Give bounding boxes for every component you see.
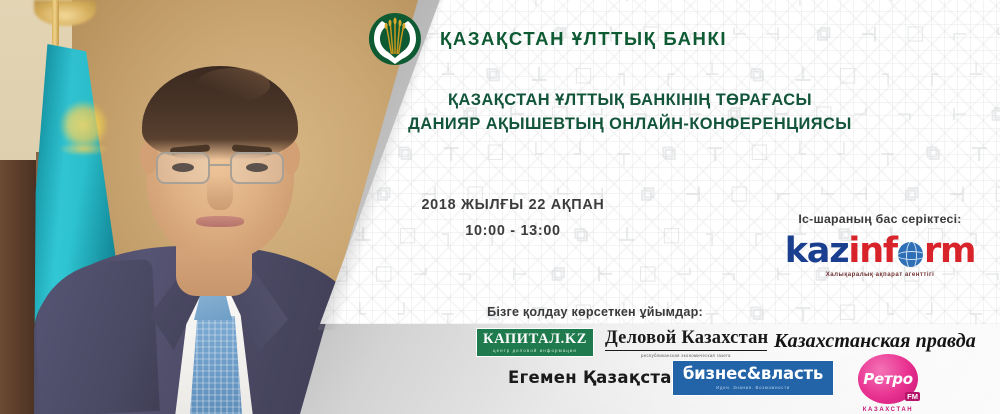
nbk-emblem-icon (368, 12, 422, 66)
hair-highlight (196, 68, 270, 102)
supporter-logo-retro-fm[interactable]: Ретро FM КАЗАХСТАН (848, 354, 928, 413)
delovoy-name: Деловой Казахстан (605, 329, 767, 348)
lens-right (230, 152, 284, 184)
retro-name: Ретро (863, 370, 912, 388)
supporter-logo-delovoy-kazakhstan[interactable]: Деловой Казахстан республиканская эконом… (605, 329, 767, 358)
event-title: ҚАЗАҚСТАН ҰЛТТЫҚ БАНКІНІҢ ТӨРАҒАСЫ ДАНИЯ… (380, 88, 880, 137)
retro-fm-country: КАЗАХСТАН (848, 407, 928, 413)
kapital-name: КАПИТАЛ.KZ (483, 332, 587, 347)
supporter-logo-egemen-qazaqstan[interactable]: Егемен Қазақстан (508, 368, 673, 387)
event-schedule: 2018 ЖЫЛҒЫ 22 АҚПАН 10:00 - 13:00 (398, 198, 628, 239)
supporter-logo-kazpravda[interactable]: Казахстанская правда (774, 330, 994, 353)
supporter-logo-kapital-kz[interactable]: КАПИТАЛ.KZ центр деловой информации (476, 328, 594, 357)
glasses-bridge (210, 164, 230, 166)
kapital-subtitle: центр деловой информации (493, 348, 577, 353)
nose (207, 176, 233, 210)
biznes-vlast-name: бизнес&власть (683, 366, 823, 383)
national-bank-name: ҚАЗАҚСТАН ҰЛТТЫҚ БАНКІ (440, 28, 727, 50)
kazinform-logo-kaz: kaz (785, 234, 849, 269)
event-date: 2018 ЖЫЛҒЫ 22 АҚПАН (398, 198, 628, 212)
mouth (196, 216, 244, 227)
suit-shoulder-left (32, 259, 160, 414)
biznes-vlast-subtitle: Идеи. Знания. Возможности (716, 385, 790, 390)
supporter-logo-biznes-vlast[interactable]: бизнес&власть Идеи. Знания. Возможности (672, 360, 834, 396)
main-partner-block: Іс-шараның бас серіктесі: kazinfrm Халық… (762, 212, 998, 278)
event-title-line-1: ҚАЗАҚСТАН ҰЛТТЫҚ БАНКІНІҢ ТӨРАҒАСЫ (380, 88, 880, 112)
kazinform-logo[interactable]: kazinfrm (762, 234, 998, 269)
retro-fm-badge: FM (905, 392, 920, 401)
event-time: 10:00 - 13:00 (398, 223, 628, 239)
conference-banner: ⊥⊥□┐┌┴⧉⊥□┐┌┴⧉⊥□┐□□┐┌┴⧉⊥□┐┌┴⧉⊥□┐┌┐┐┌┴⧉⊥□┐… (0, 0, 1000, 414)
national-bank-logo: ҚАЗАҚСТАН ҰЛТТЫҚ БАНКІ (368, 10, 708, 68)
globe-icon (898, 242, 923, 267)
supporter-logo-row-2: Егемен Қазақстан бизнес&власть Идеи. Зна… (500, 360, 940, 410)
kazinform-logo-inf: inf (848, 234, 897, 269)
kazinform-logo-rm: rm (924, 234, 975, 269)
kazinform-tagline: Халықаралық ақпарат агенттігі (762, 271, 998, 278)
event-title-line-2: ДАНИЯР АҚЫШЕВТЫҢ ОНЛАЙН-КОНФЕРЕНЦИЯСЫ (380, 112, 880, 136)
main-partner-caption: Іс-шараның бас серіктесі: (762, 212, 998, 226)
retro-fm-circle-icon: Ретро FM (858, 354, 918, 404)
delovoy-subtitle: республиканская экономическая газета (605, 353, 767, 358)
necktie (190, 316, 242, 414)
delovoy-rule (605, 350, 767, 352)
lens-left (156, 152, 210, 184)
supporters-caption: Бізге қолдау көрсеткен ұйымдар: (470, 305, 720, 319)
kazpravda-name: Казахстанская правда (774, 330, 994, 353)
